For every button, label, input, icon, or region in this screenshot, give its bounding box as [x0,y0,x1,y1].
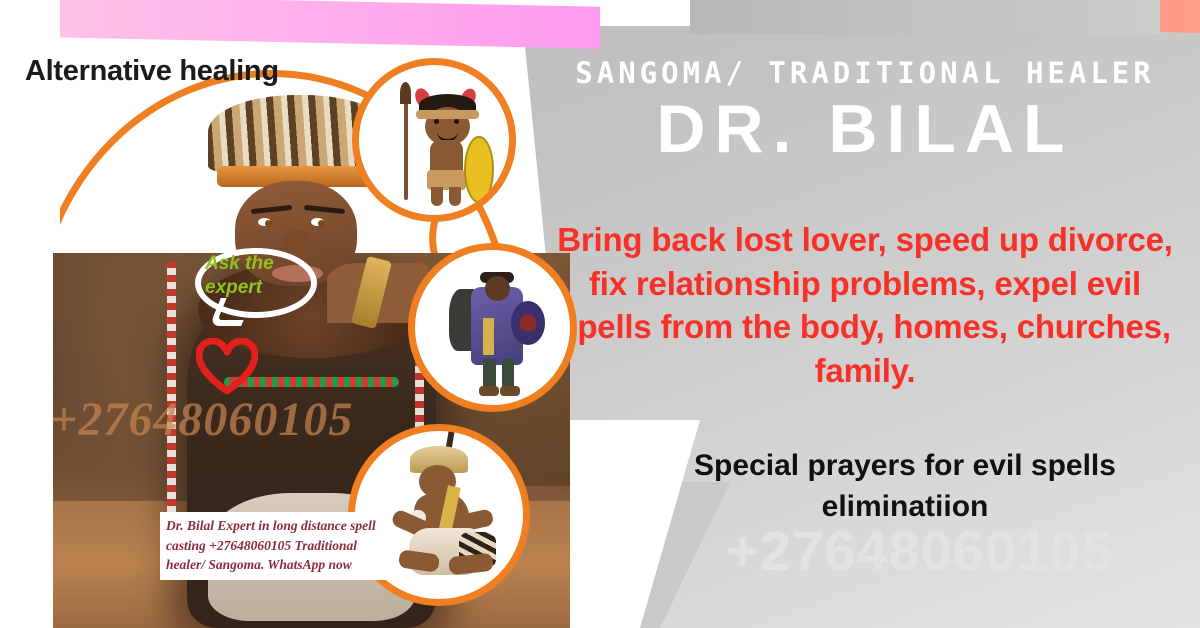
poster-canvas: Alternative healing Ask the expert [0,0,1200,628]
headline-block: SANGOMA/ TRADITIONAL HEALER DR. BILAL [545,58,1185,165]
top-bar-gray [690,0,1170,34]
services-text: Bring back lost lover, speed up divorce,… [540,218,1190,392]
speech-bubble-label: Ask the expert [205,252,301,300]
cloaked-healer-icon [408,243,577,412]
top-bar-pink [0,0,600,49]
special-prayers-text: Special prayers for evil spells eliminat… [620,446,1190,527]
zulu-warrior-icon [352,58,516,222]
arc-mask [0,0,60,628]
photo-watermark-phone: +27648060105 [50,392,353,447]
headline-name: DR. BILAL [545,94,1185,165]
headline-kicker: SANGOMA/ TRADITIONAL HEALER [545,58,1185,90]
photo-caption: Dr. Bilal Expert in long distance spell … [160,512,390,580]
page-title: Alternative healing [25,55,279,88]
heart-icon [196,338,258,394]
ghost-phone-number: +27648060105 [640,523,1200,579]
